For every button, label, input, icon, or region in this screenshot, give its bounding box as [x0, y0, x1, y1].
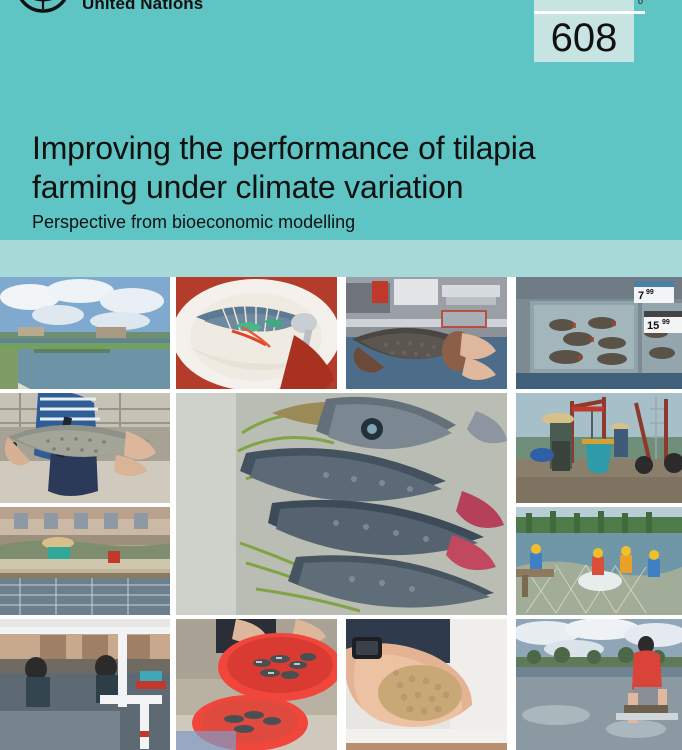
photo-pond-landscape — [0, 277, 170, 389]
photo-farmer-holding-tilapia — [0, 393, 170, 503]
publication-cover: AT PA United Nations PAPER 608 o Improvi… — [0, 0, 682, 750]
series-superscript-mark: o — [638, 0, 643, 6]
cover-photo-mosaic: 7 99 15 99 — [0, 277, 682, 750]
photo-harvested-tilapia-on-grass — [176, 393, 507, 615]
photo-seine-net-harvest — [516, 507, 682, 615]
page-title: Improving the performance of tilapia far… — [32, 129, 644, 207]
photo-pond-side-feeding — [516, 619, 682, 750]
fao-united-nations-emblem-icon: AT PA — [14, 0, 72, 14]
photo-hands-holding-tilapia-processing — [346, 277, 507, 389]
svg-text:15: 15 — [647, 320, 659, 332]
photo-hatchery-tanks — [0, 619, 170, 750]
svg-text:99: 99 — [662, 319, 670, 326]
photo-crane-harvest-operation — [516, 393, 682, 503]
photo-hatchery-raceways — [0, 507, 170, 615]
accent-strip — [0, 240, 682, 277]
photo-live-fish-retail-tanks: 7 99 15 99 — [516, 277, 682, 389]
series-label: PAPER — [534, 0, 634, 2]
cover-header-band: AT PA United Nations PAPER 608 o Improvi… — [0, 0, 682, 240]
organization-lockup: AT PA United Nations — [0, 0, 203, 14]
photo-fingerlings-in-basket — [176, 619, 337, 750]
series-divider-rule — [534, 11, 645, 14]
photo-feed-pellets-in-hand — [346, 619, 507, 750]
organization-name: United Nations — [82, 0, 203, 14]
photo-cooked-tilapia-dish — [176, 277, 337, 389]
svg-text:99: 99 — [646, 289, 654, 296]
page-subtitle: Perspective from bioeconomic modelling — [32, 212, 644, 234]
series-number: 608 — [534, 16, 634, 60]
svg-text:7: 7 — [638, 290, 644, 302]
